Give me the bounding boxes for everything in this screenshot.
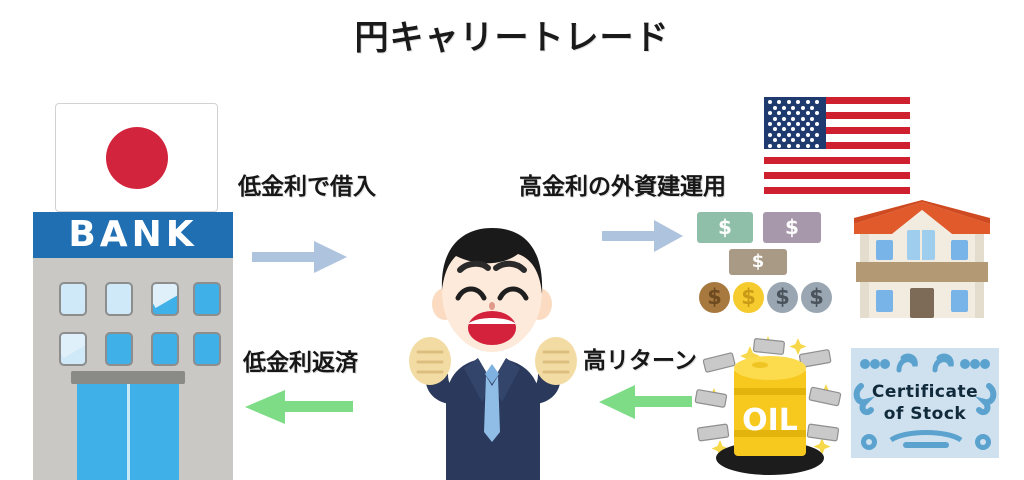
money-illustration: $ $ $ $ $ $ $ [697, 212, 847, 320]
us-flag-star [782, 138, 786, 142]
us-flag-canton [764, 97, 826, 149]
us-flag-star [768, 111, 772, 115]
bank-window [151, 332, 179, 366]
us-flag-star [806, 133, 810, 137]
bank-window [151, 282, 179, 316]
us-flag-star [782, 117, 786, 121]
us-flag-star [791, 127, 795, 131]
dollar-bill: $ [729, 249, 787, 275]
us-flag-star [806, 122, 810, 126]
us-flag-star [796, 144, 800, 148]
us-flag-star [768, 133, 772, 137]
certificate-text: Certificate of Stock [851, 381, 999, 425]
bank-sign-label: BANK [33, 212, 233, 258]
page-title: 円キャリートレード [0, 10, 1024, 59]
us-flag-star [768, 100, 772, 104]
us-flag-star [796, 133, 800, 137]
us-flag-star [768, 144, 772, 148]
us-flag-star [810, 127, 814, 131]
us-flag-star [815, 100, 819, 104]
us-flag-star [773, 106, 777, 110]
us-flag-star [791, 138, 795, 142]
bank-window [105, 332, 133, 366]
us-flag-star [806, 100, 810, 104]
us-flag-star [787, 144, 791, 148]
arrow-invest-icon [602, 218, 684, 254]
arrow-return-icon [597, 383, 692, 421]
us-flag-star [777, 111, 781, 115]
us-flag-star [806, 144, 810, 148]
label-return: 高リターン [583, 341, 697, 375]
us-flag-star [796, 111, 800, 115]
house-illustration [852, 200, 992, 320]
bank-entrance-awning [71, 371, 185, 384]
bank-window [193, 282, 221, 316]
us-flag-star [791, 106, 795, 110]
us-flag [764, 97, 910, 194]
bank-building: BANK [33, 212, 233, 480]
us-flag-star [777, 122, 781, 126]
us-flag-stripe [764, 157, 910, 164]
us-flag-star [773, 117, 777, 121]
bank-sign: BANK [33, 212, 233, 258]
bank-window [193, 332, 221, 366]
bank-body [33, 258, 233, 480]
us-flag-stripe [764, 187, 910, 194]
arrow-repay-icon [243, 388, 353, 426]
japan-flag-disc [106, 127, 168, 189]
dollar-coin: $ [801, 282, 832, 313]
us-flag-star [773, 138, 777, 142]
us-flag-stripe [764, 172, 910, 179]
us-flag-star [796, 100, 800, 104]
stock-certificate: Certificate of Stock [851, 348, 999, 458]
svg-text:OIL: OIL [742, 403, 798, 438]
us-flag-star [777, 144, 781, 148]
bank-entrance-door [77, 384, 179, 480]
us-flag-star [768, 122, 772, 126]
us-flag-star [801, 106, 805, 110]
us-flag-star [815, 133, 819, 137]
us-flag-star [810, 117, 814, 121]
bank-window [59, 282, 87, 316]
us-flag-star [787, 100, 791, 104]
us-flag-star [801, 127, 805, 131]
us-flag-star [777, 100, 781, 104]
us-flag-star [801, 117, 805, 121]
us-flag-star [810, 106, 814, 110]
arrow-borrow-icon [252, 238, 348, 276]
bank-window [59, 332, 87, 366]
businessman-celebrating-icon [390, 206, 595, 480]
label-repay: 低金利返済 [243, 343, 358, 377]
japan-flag [55, 103, 218, 212]
bank-door-split [127, 384, 130, 480]
us-flag-star [801, 138, 805, 142]
dollar-bill: $ [763, 212, 821, 243]
label-borrow: 低金利で借入 [238, 167, 376, 201]
certificate-line-1: Certificate [851, 381, 999, 403]
us-flag-star [815, 122, 819, 126]
us-flag-star [815, 144, 819, 148]
us-flag-star [777, 133, 781, 137]
dollar-bill: $ [697, 212, 753, 243]
dollar-coin: $ [733, 282, 764, 313]
us-flag-star [782, 127, 786, 131]
us-flag-star [782, 106, 786, 110]
bank-window [105, 282, 133, 316]
us-flag-star [815, 111, 819, 115]
us-flag-star [787, 111, 791, 115]
dollar-coin: $ [699, 282, 730, 313]
us-flag-star [773, 127, 777, 131]
us-flag-star [810, 138, 814, 142]
dollar-coin: $ [767, 282, 798, 313]
certificate-line-2: of Stock [851, 403, 999, 425]
us-flag-star [796, 122, 800, 126]
us-flag-star [806, 111, 810, 115]
oil-barrel-illustration: OIL [694, 330, 846, 480]
us-flag-star [787, 133, 791, 137]
us-flag-star [787, 122, 791, 126]
us-flag-star [791, 117, 795, 121]
diagram-canvas: 円キャリートレード BANK 低金利で借入 高金利の外資建運用 低金利返済 高リ… [0, 0, 1024, 480]
label-invest: 高金利の外資建運用 [519, 167, 726, 201]
